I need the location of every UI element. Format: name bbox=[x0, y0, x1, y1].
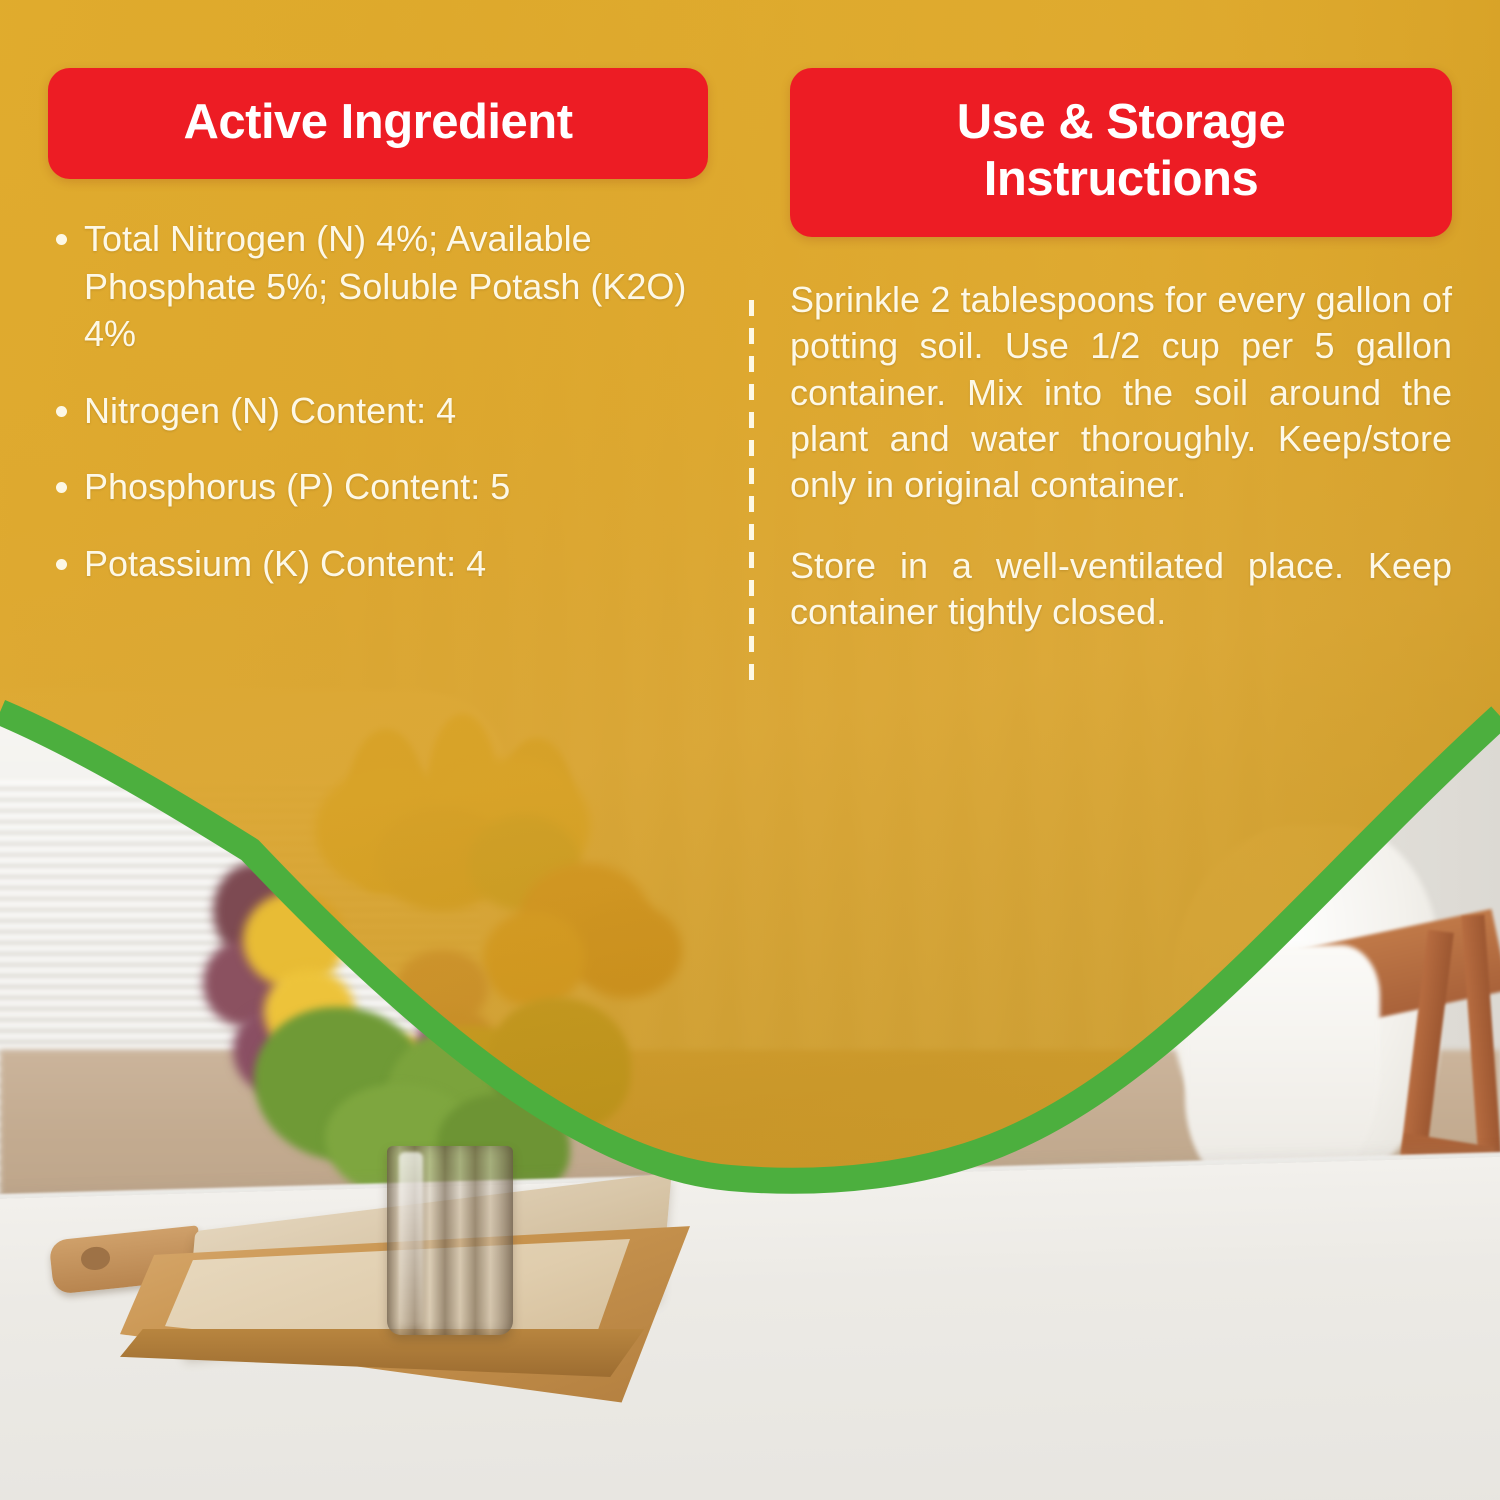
use-storage-banner: Use & Storage Instructions bbox=[790, 68, 1452, 237]
dashed-column-divider bbox=[749, 300, 754, 692]
poster-content: Active Ingredient Total Nitrogen (N) 4%;… bbox=[0, 0, 1500, 1500]
active-ingredient-column: Active Ingredient Total Nitrogen (N) 4%;… bbox=[48, 68, 708, 616]
list-item: Total Nitrogen (N) 4%; Available Phospha… bbox=[48, 215, 708, 358]
active-ingredient-title: Active Ingredient bbox=[72, 94, 684, 151]
use-storage-column: Use & Storage Instructions Sprinkle 2 ta… bbox=[790, 68, 1452, 636]
use-storage-instructions: Sprinkle 2 tablespoons for every gallon … bbox=[790, 277, 1452, 636]
use-storage-title: Use & Storage Instructions bbox=[814, 94, 1428, 209]
list-item: Potassium (K) Content: 4 bbox=[48, 540, 708, 588]
instruction-paragraph: Sprinkle 2 tablespoons for every gallon … bbox=[790, 277, 1452, 509]
active-ingredient-banner: Active Ingredient bbox=[48, 68, 708, 179]
product-infographic-poster: Active Ingredient Total Nitrogen (N) 4%;… bbox=[0, 0, 1500, 1500]
instruction-paragraph: Store in a well-ventilated place. Keep c… bbox=[790, 543, 1452, 636]
list-item: Phosphorus (P) Content: 5 bbox=[48, 463, 708, 511]
list-item: Nitrogen (N) Content: 4 bbox=[48, 387, 708, 435]
active-ingredient-list: Total Nitrogen (N) 4%; Available Phospha… bbox=[48, 215, 708, 587]
